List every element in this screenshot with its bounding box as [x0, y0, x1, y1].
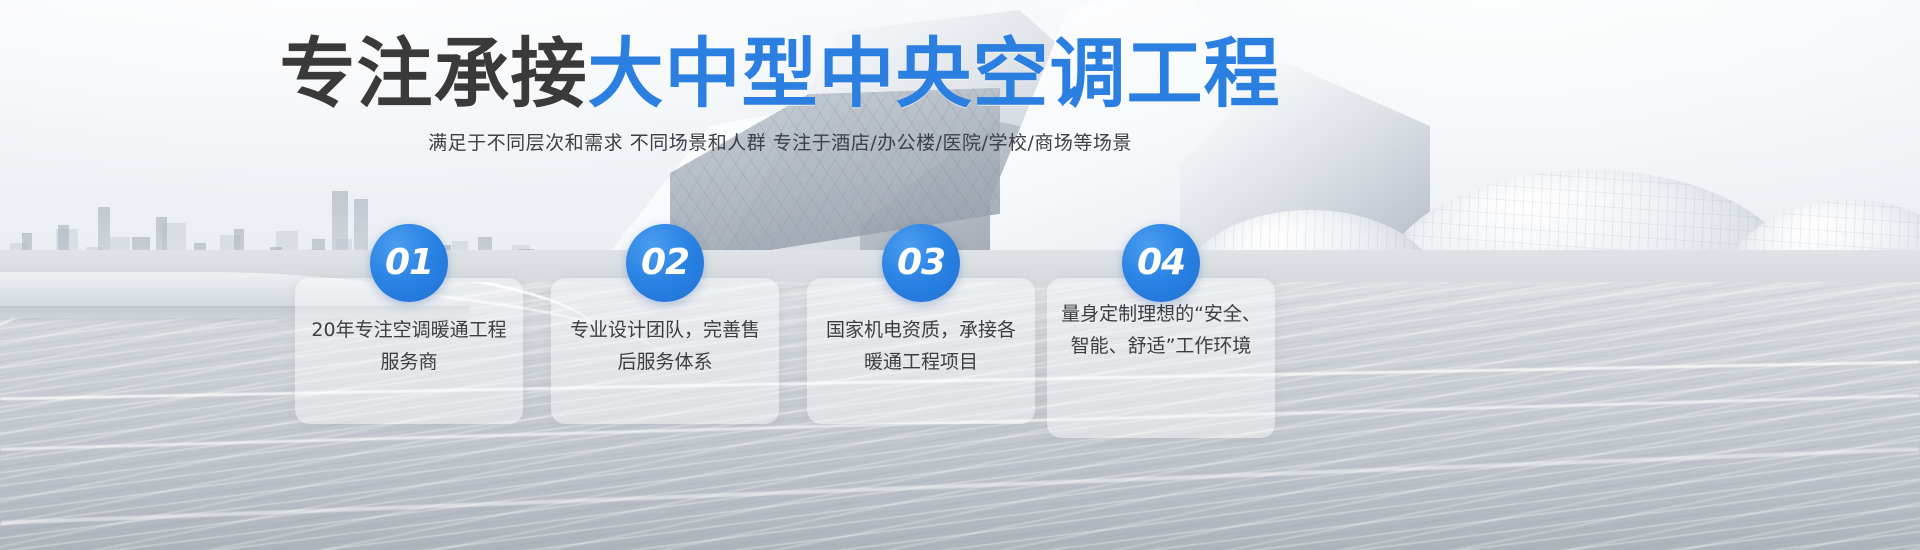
hero-banner: 专注承接大中型中央空调工程 满足于不同层次和需求 不同场景和人群 专注于酒店/办… — [0, 0, 1920, 550]
headline-dark-text: 专注承接 — [280, 29, 588, 118]
feature-card-2-text: 专业设计团队，完善售后服务体系 — [565, 314, 765, 378]
feature-cards: 01 20年专注空调暖通工程服务商 02 专业设计团队，完善售后服务体系 03 … — [295, 278, 1295, 428]
number-badge-02: 02 — [626, 224, 704, 302]
feature-card-1[interactable]: 01 20年专注空调暖通工程服务商 — [295, 278, 523, 424]
number-badge-01: 01 — [370, 224, 448, 302]
number-badge-02-label: 02 — [626, 224, 704, 302]
feature-card-3[interactable]: 03 国家机电资质，承接各暖通工程项目 — [807, 278, 1035, 424]
feature-card-1-text: 20年专注空调暖通工程服务商 — [309, 314, 509, 378]
number-badge-04: 04 — [1122, 224, 1200, 302]
feature-card-3-text: 国家机电资质，承接各暖通工程项目 — [821, 314, 1021, 378]
feature-card-4-text: 量身定制理想的“安全、智能、舒适”工作环境 — [1061, 298, 1261, 362]
number-badge-04-label: 04 — [1122, 224, 1200, 302]
subheadline: 满足于不同层次和需求 不同场景和人群 专注于酒店/办公楼/医院/学校/商场等场景 — [0, 128, 1560, 155]
headline: 专注承接大中型中央空调工程 — [0, 36, 1560, 112]
feature-card-2[interactable]: 02 专业设计团队，完善售后服务体系 — [551, 278, 779, 424]
number-badge-03: 03 — [882, 224, 960, 302]
number-badge-01-label: 01 — [370, 224, 448, 302]
feature-card-4[interactable]: 04 量身定制理想的“安全、智能、舒适”工作环境 — [1047, 278, 1275, 438]
headline-highlight-text: 大中型中央空调工程 — [588, 29, 1281, 118]
number-badge-03-label: 03 — [882, 224, 960, 302]
